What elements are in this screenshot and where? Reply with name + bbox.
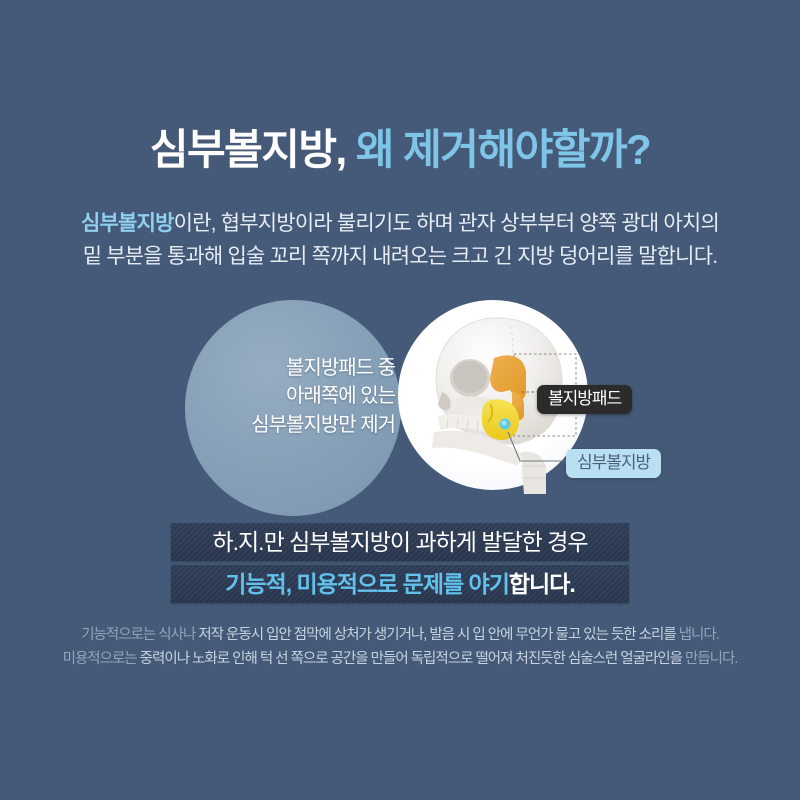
banner-line-1: 하.지.만 심부볼지방이 과하게 발달한 경우 — [171, 523, 629, 561]
leader-lines — [0, 296, 800, 506]
banner-line-2-blue: 기능적, 미용적으로 문제를 야기 — [225, 571, 509, 597]
footnote-2-mid: 중력이나 노화로 인해 턱 선 쪽으로 공간을 만들어 독립적으로 떨어져 처진… — [137, 651, 685, 667]
leader-line-deep-fat — [508, 432, 572, 461]
footnote-1-tail: 냅니다. — [679, 627, 719, 643]
page-title-blue: 왜 제거해야할까? — [356, 126, 650, 173]
lead-line-2: 밑 부분을 통과해 입술 꼬리 쪽까지 내려오는 크고 긴 지방 덩어리를 말합… — [0, 241, 800, 274]
lead-line-1: 심부볼지방이란, 협부지방이라 불리기도 하며 관자 상부부터 양쪽 광대 아치… — [0, 208, 800, 241]
footnote-line-2: 미용적으로는 중력이나 노화로 인해 턱 선 쪽으로 공간을 만들어 독립적으로… — [0, 650, 800, 670]
banner-line-2-white: 합니다. — [509, 571, 575, 597]
lead-paragraph: 심부볼지방이란, 협부지방이라 불리기도 하며 관자 상부부터 양쪽 광대 아치… — [0, 208, 800, 273]
label-buccal-fat-pad: 볼지방패드 — [537, 385, 632, 414]
footnote-2-lead: 미용적으로는 — [63, 651, 137, 667]
diagram-area: 볼지방패드 중 아래쪽에 있는 심부볼지방만 제거 — [0, 296, 800, 496]
footnote-1-mid: 저작 운동시 입안 점막에 상처가 생기거나, 발음 시 입 안에 무언가 물고… — [195, 627, 678, 643]
lead-line-1-rest: 이란, 협부지방이라 불리기도 하며 관자 상부부터 양쪽 광대 아치의 — [174, 212, 719, 235]
page-title-white: 심부볼지방, — [150, 126, 346, 173]
banner-line-2: 기능적, 미용적으로 문제를 야기합니다. — [171, 565, 629, 603]
footnote-line-1: 기능적으로는 식사나 저작 운동시 입안 점막에 상처가 생기거나, 발음 시 … — [0, 626, 800, 646]
lead-highlight: 심부볼지방 — [81, 212, 174, 235]
highlight-banner: 하.지.만 심부볼지방이 과하게 발달한 경우 기능적, 미용적으로 문제를 야… — [171, 523, 629, 603]
footnote-2-tail: 만듭니다. — [685, 651, 737, 667]
footnote-1-lead: 기능적으로는 식사나 — [81, 627, 195, 643]
label-deep-buccal-fat: 심부볼지방 — [566, 449, 661, 478]
page-title: 심부볼지방, 왜 제거해야할까? — [0, 126, 800, 174]
